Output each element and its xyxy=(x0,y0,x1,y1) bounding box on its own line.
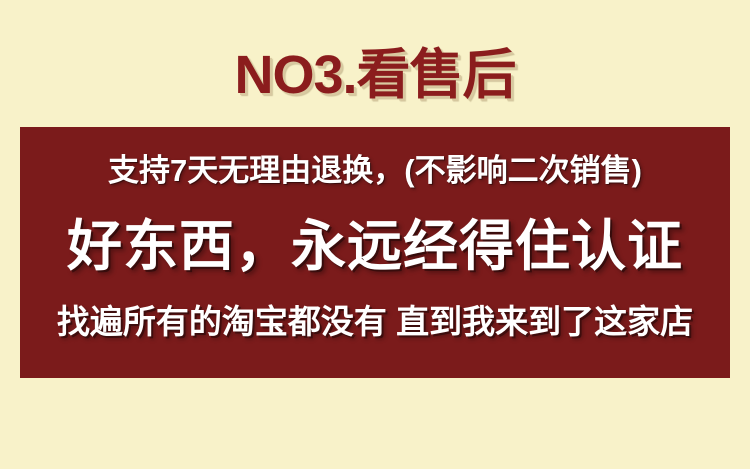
page-title: NO3.看售后 xyxy=(0,42,750,108)
after-sales-service-banner: 支持7天无理由退换，(不影响二次销售) 好东西，永远经得住认证 找遍所有的淘宝都… xyxy=(20,127,730,378)
promotional-banner: NO3.看售后 支持7天无理由退换，(不影响二次销售) 好东西，永远经得住认证 … xyxy=(0,0,750,469)
quality-slogan-text: 好东西，永远经得住认证 xyxy=(20,211,730,281)
return-policy-text: 支持7天无理由退换，(不影响二次销售) xyxy=(20,151,730,191)
customer-story-text: 找遍所有的淘宝都没有 直到我来到了这家店 xyxy=(20,300,730,344)
